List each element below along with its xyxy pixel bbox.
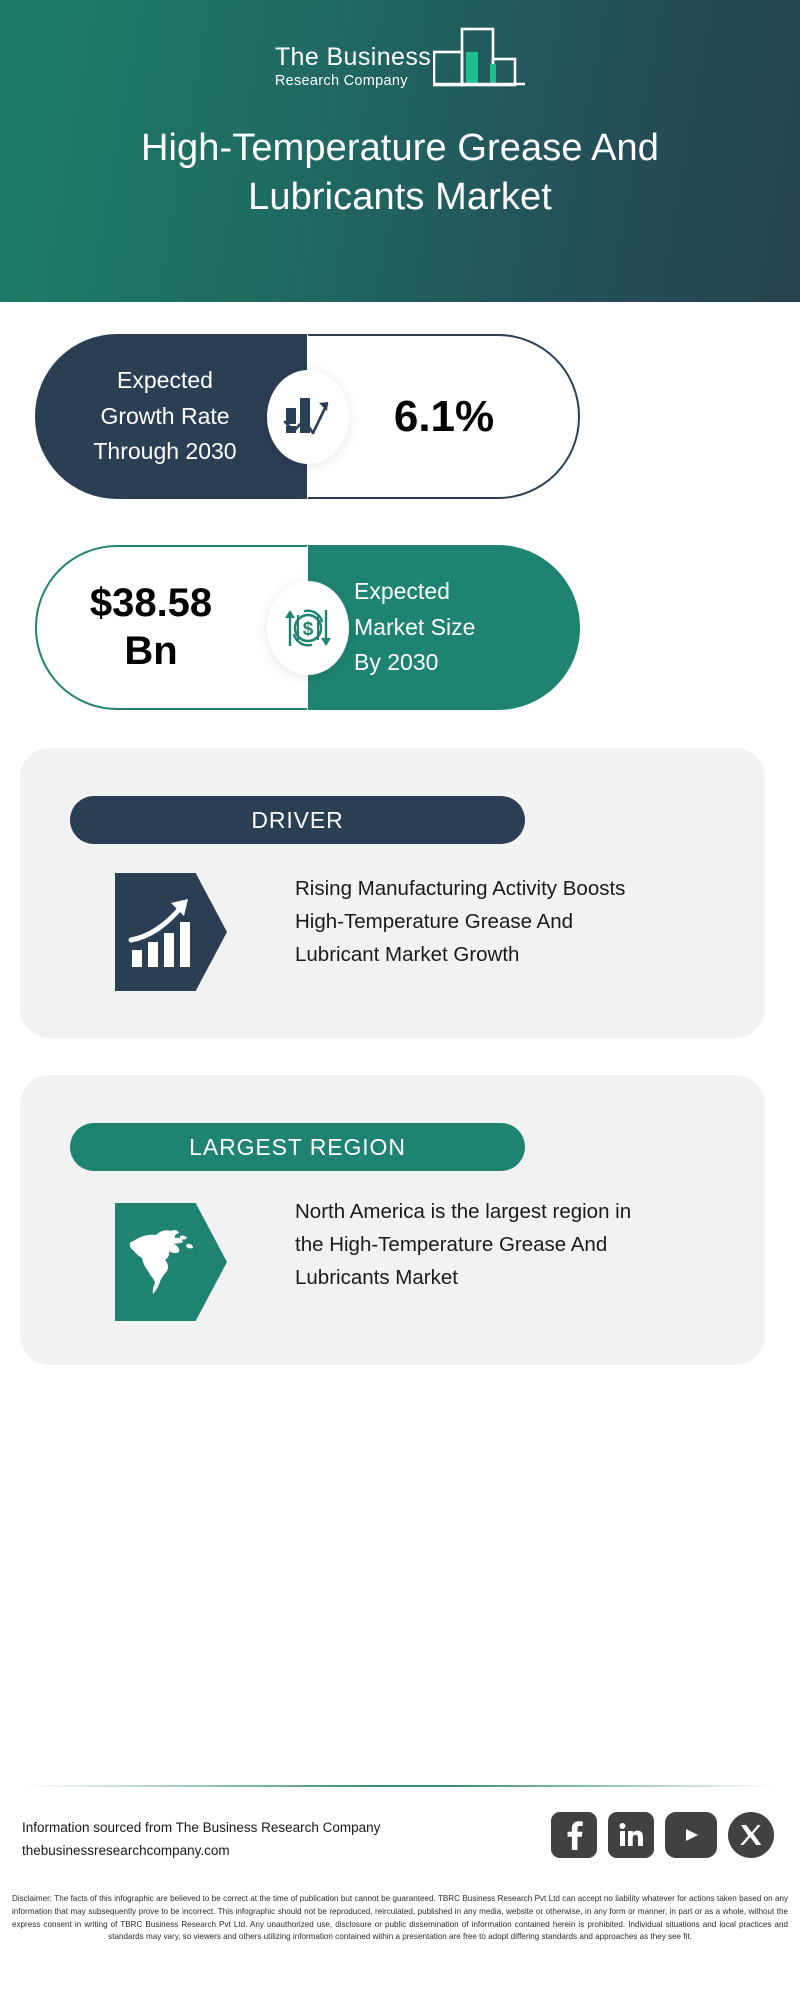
largest-region-pill-label: LARGEST REGION [70, 1123, 525, 1171]
largest-region-description: North America is the largest region in t… [295, 1195, 640, 1295]
growth-label-line-1: Expected [57, 363, 273, 399]
driver-description: Rising Manufacturing Activity Boosts Hig… [295, 872, 640, 972]
growth-rate-value: 6.1% [308, 334, 580, 499]
bar-chart-logo-mark [433, 15, 525, 92]
dollar-cycle-icon: $ [267, 581, 349, 675]
logo-wordmark: The Business Research Company [275, 45, 431, 96]
market-size-label: Expected Market Size By 2030 [308, 545, 580, 710]
svg-text:$: $ [302, 619, 313, 640]
page-title: High-Temperature Grease And Lubricants M… [50, 124, 750, 221]
infographic-header: The Business Research Company High-Tempe… [0, 0, 800, 302]
footer-website-link[interactable]: thebusinessresearchcompany.com [22, 1839, 472, 1862]
youtube-icon[interactable] [665, 1812, 717, 1858]
market-size-unit: Bn [124, 628, 177, 675]
social-links [551, 1812, 774, 1858]
logo-line-2: Research Company [275, 72, 408, 90]
expected-market-size-card: $38.58 Bn Expected Market Size By 2030 $ [35, 545, 580, 710]
market-size-amount: $38.58 [90, 580, 212, 627]
facebook-icon[interactable] [551, 1812, 597, 1858]
footer-source-attribution: Information sourced from The Business Re… [22, 1816, 472, 1862]
largest-region-panel: LARGEST REGION North America is the larg… [20, 1075, 765, 1365]
x-twitter-icon[interactable] [728, 1812, 774, 1858]
market-size-label-line-1: Expected [354, 574, 558, 610]
north-america-map-icon [115, 1203, 227, 1321]
market-size-label-line-2: Market Size [354, 610, 558, 646]
driver-panel: DRIVER Rising Manufacturing Activity Boo… [20, 748, 765, 1038]
growth-label-line-3: Through 2030 [57, 434, 273, 470]
logo-line-1: The Business [275, 45, 431, 71]
growth-chart-arrow-icon [267, 370, 349, 464]
driver-pill-label: DRIVER [70, 796, 525, 844]
rising-bar-chart-icon [115, 873, 227, 991]
company-logo: The Business Research Company [0, 18, 800, 96]
linkedin-icon[interactable] [608, 1812, 654, 1858]
expected-growth-rate-card: Expected Growth Rate Through 2030 6.1% [35, 334, 580, 499]
disclaimer-text: Disclaimer: The facts of this infographi… [12, 1893, 788, 1944]
market-size-label-line-3: By 2030 [354, 645, 558, 681]
growth-label-line-2: Growth Rate [57, 399, 273, 435]
footer-divider [22, 1785, 778, 1787]
footer-source-line-1: Information sourced from The Business Re… [22, 1816, 472, 1839]
